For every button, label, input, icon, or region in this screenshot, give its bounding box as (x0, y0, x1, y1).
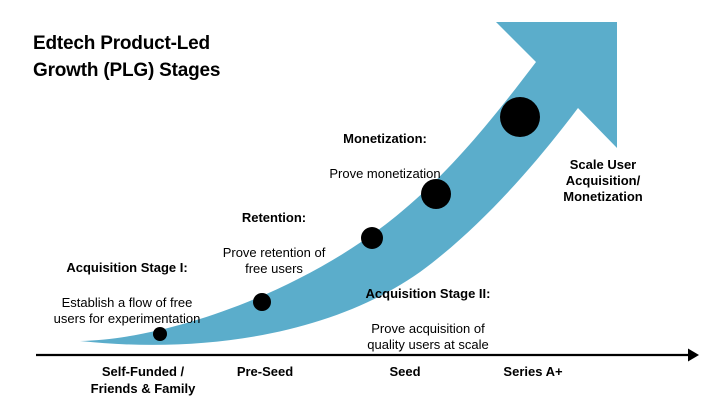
stage-label-retention: Retention: Prove retention of free users (214, 190, 334, 296)
axis-tick-label-pre-seed: Pre-Seed (200, 364, 330, 381)
stage-heading-acquisition-1: Acquisition Stage I: (52, 260, 202, 276)
stage-heading-acquisition-2: Acquisition Stage II: (358, 286, 498, 302)
axis-tick-label-self-funded: Self-Funded / Friends & Family (78, 364, 208, 397)
stage-label-monetization: Monetization: Prove monetization (320, 111, 450, 201)
axis-tick-label-series-a: Series A+ (468, 364, 598, 381)
stage-body-acquisition-1: Establish a flow of free users for exper… (52, 295, 202, 327)
stage-body-acquisition-2: Prove acquisition of quality users at sc… (358, 321, 498, 353)
stage-label-acquisition-2: Acquisition Stage II: Prove acquisition … (358, 266, 498, 372)
slide-canvas: Edtech Product-Led Growth (PLG) Stages A… (0, 0, 720, 405)
stage-heading-scale: Scale User Acquisition/ Monetization (548, 157, 658, 206)
stage-heading-monetization: Monetization: (320, 131, 450, 147)
axis-tick-label-seed: Seed (340, 364, 470, 381)
stage-heading-retention: Retention: (214, 210, 334, 226)
stage-label-acquisition-1: Acquisition Stage I: Establish a flow of… (52, 240, 202, 346)
stage-label-scale: Scale User Acquisition/ Monetization (548, 137, 658, 225)
stage-body-retention: Prove retention of free users (214, 245, 334, 277)
stage-body-monetization: Prove monetization (320, 166, 450, 182)
growth-dot-5 (500, 97, 540, 137)
x-axis-arrowhead-icon (688, 349, 699, 362)
page-title: Edtech Product-Led Growth (PLG) Stages (33, 31, 220, 85)
growth-dot-3 (361, 227, 383, 249)
